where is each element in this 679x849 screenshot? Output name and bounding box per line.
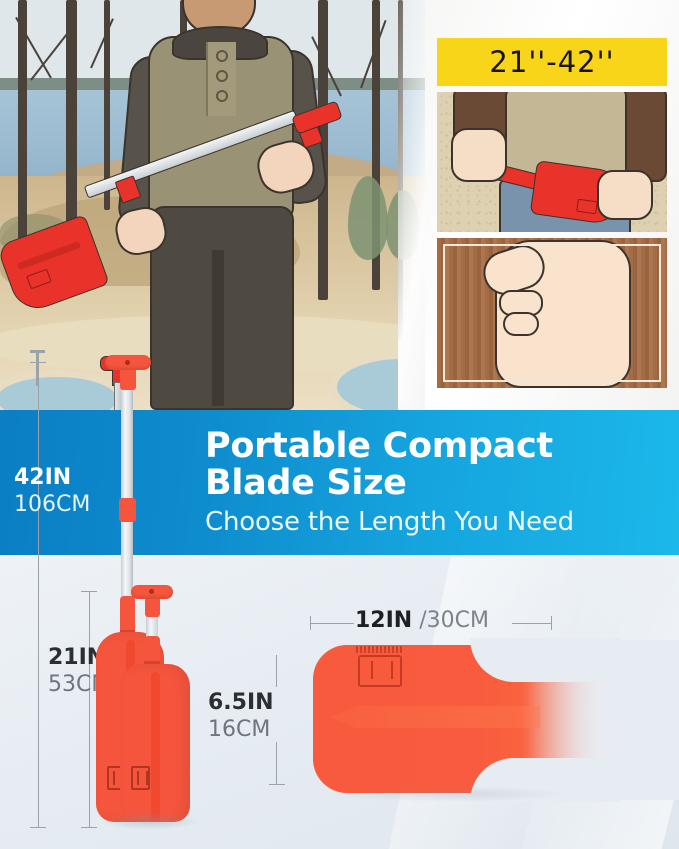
label-blade-width-inches: 12IN bbox=[355, 608, 412, 633]
person-illustration bbox=[120, 0, 350, 410]
lifestyle-photo-man-holding-paddle bbox=[0, 0, 440, 410]
headline-subtitle: Choose the Length You Need bbox=[205, 507, 675, 537]
blade-closeup-logo-icon bbox=[358, 655, 402, 687]
label-blade-height: 6.5IN 16CM bbox=[208, 690, 274, 742]
dimension-65in-line-bottom bbox=[276, 742, 277, 784]
length-range-label: 21''-42'' bbox=[489, 45, 614, 79]
shirt-button bbox=[216, 50, 228, 62]
inset-photo-collapsed-paddle-in-hands bbox=[437, 92, 667, 232]
blade-closeup-brand-text-icon bbox=[356, 646, 402, 653]
dimension-12in-line-left bbox=[310, 623, 354, 624]
extended-paddle-shaft bbox=[121, 388, 133, 603]
shirt-button bbox=[216, 90, 228, 102]
dimension-42in-bottom-cap bbox=[30, 827, 46, 828]
dimension-42in-line bbox=[38, 362, 39, 827]
blade-closeup-rib bbox=[330, 706, 540, 728]
paddle-ground-shadow bbox=[100, 812, 200, 830]
label-blade-width: 12IN /30CM bbox=[355, 608, 489, 633]
ground-marker-cap bbox=[30, 350, 45, 353]
headline-line-2: Blade Size bbox=[205, 465, 675, 502]
inset2-photo-frame bbox=[443, 244, 661, 382]
right-photo-column: 21''-42'' bbox=[425, 0, 679, 410]
label-blade-width-cm: /30CM bbox=[419, 608, 489, 633]
collapsed-paddle-logo-icon bbox=[131, 766, 150, 790]
top-photo-section: 21''-42'' bbox=[0, 0, 679, 410]
extended-paddle-handle-hole bbox=[125, 360, 130, 365]
inset-photo-grip-closeup bbox=[437, 238, 667, 388]
trouser-seam bbox=[212, 250, 224, 406]
headline-title: Portable Compact Blade Size bbox=[205, 428, 675, 502]
inset1-right-hand bbox=[597, 170, 653, 220]
headline-line-1: Portable Compact bbox=[205, 428, 675, 465]
product-infographic: 21''-42'' bbox=[0, 0, 679, 849]
dimension-12in-left-cap bbox=[310, 616, 311, 630]
dimension-21in-bottom-cap bbox=[81, 827, 97, 828]
label-blade-height-cm: 16CM bbox=[208, 717, 274, 742]
label-full-length-inches: 42IN bbox=[14, 465, 71, 490]
label-full-length: 42IN 106CM bbox=[14, 465, 90, 517]
inset1-left-hand bbox=[451, 128, 507, 182]
label-full-length-cm: 106CM bbox=[14, 492, 90, 517]
label-blade-height-inches: 6.5IN bbox=[208, 690, 274, 715]
blade-closeup-shadow bbox=[330, 786, 570, 802]
dimension-65in-line-top bbox=[276, 655, 277, 687]
dimension-65in-bottom-cap bbox=[269, 784, 285, 785]
collapsed-paddle-blade-rib bbox=[151, 672, 160, 822]
shirt-button bbox=[216, 70, 228, 82]
dimension-12in-line-right bbox=[512, 623, 552, 624]
dimension-21in-line bbox=[89, 591, 90, 827]
extended-paddle-blade-neck bbox=[120, 596, 135, 634]
inset1-blade-logo-icon bbox=[576, 199, 598, 215]
dimension-12in-right-cap bbox=[551, 616, 552, 630]
blade-closeup-fade bbox=[520, 640, 679, 800]
extended-paddle-locking-collar bbox=[119, 498, 136, 522]
collapsed-paddle-handle-hole bbox=[149, 589, 154, 594]
length-range-badge: 21''-42'' bbox=[437, 38, 667, 86]
